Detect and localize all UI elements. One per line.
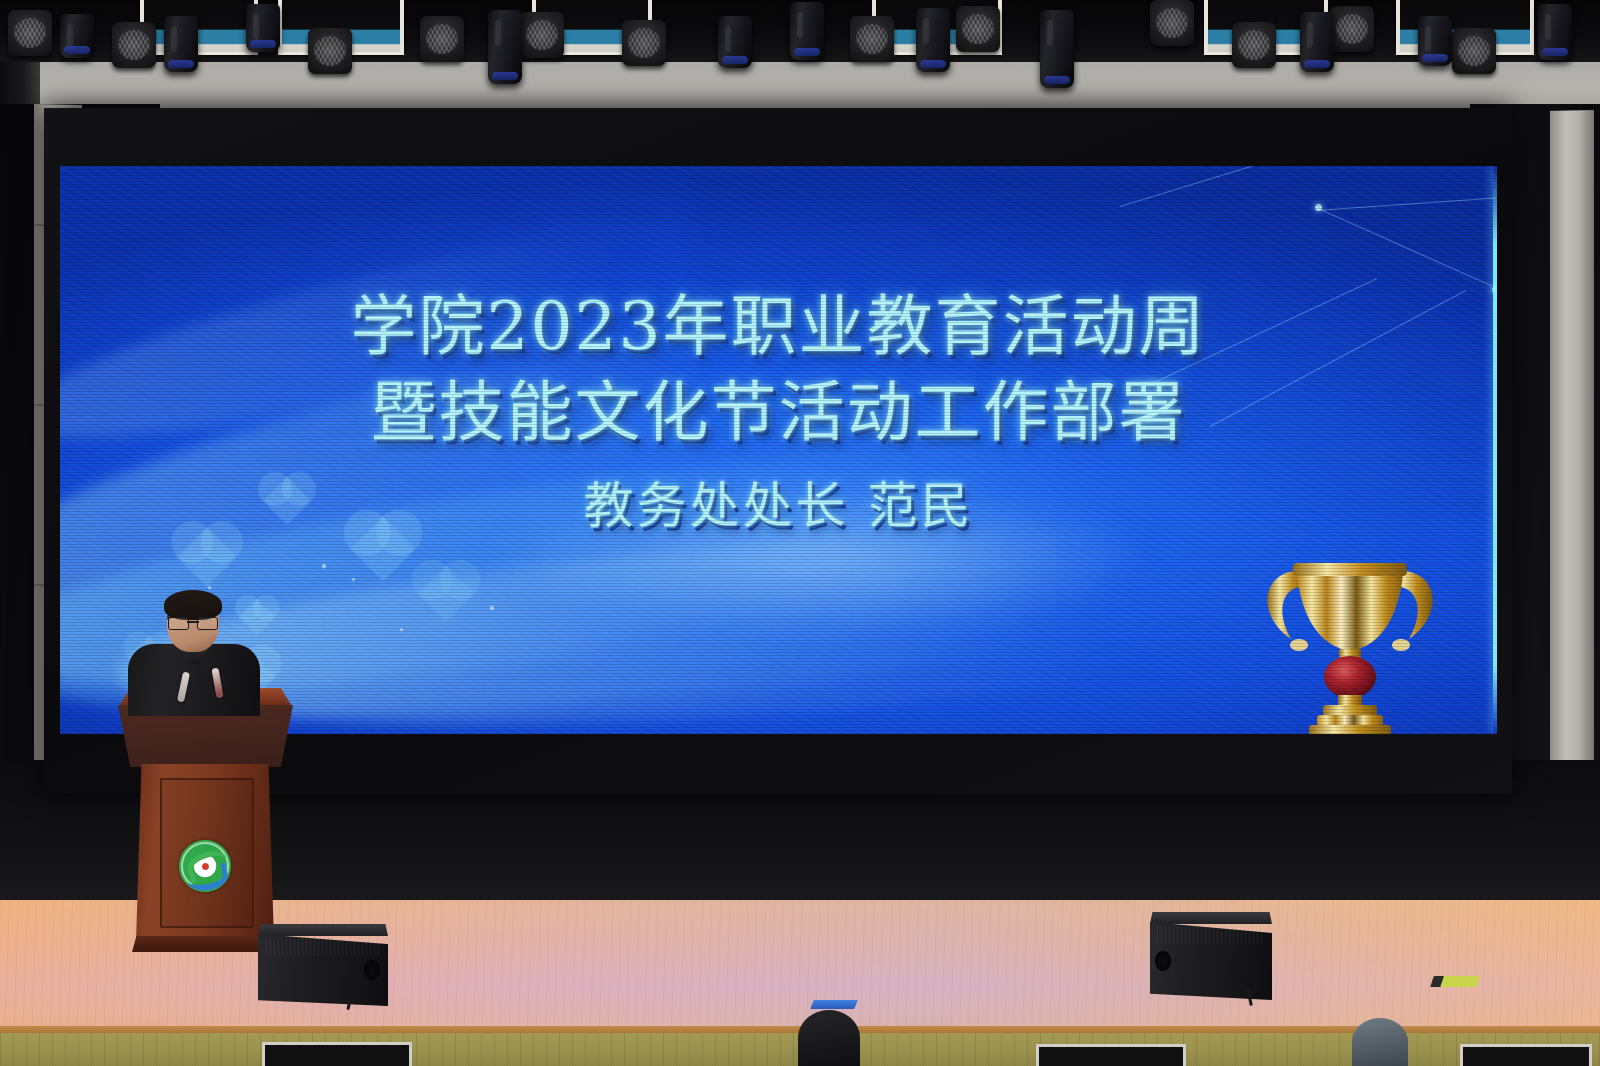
par-can-light	[850, 16, 894, 62]
par-can-light	[622, 20, 666, 66]
moving-head-light	[1538, 4, 1572, 60]
led-screen: 学院2023年职业教育活动周 暨技能文化节活动工作部署 教务处处长 范民	[60, 166, 1497, 734]
monitor-grille	[266, 938, 380, 956]
podium-body[interactable]	[136, 764, 274, 942]
moving-head-light	[488, 10, 522, 84]
moving-head-light	[916, 8, 950, 72]
par-can-light	[112, 22, 156, 68]
par-can-light	[308, 28, 352, 74]
screen-right-edge-glow	[1493, 166, 1497, 734]
eyeglasses	[168, 617, 218, 628]
par-can-light	[956, 6, 1000, 52]
audience-head	[1352, 1018, 1408, 1066]
monitor-top	[258, 924, 388, 936]
stage-monitor-speaker-left	[258, 924, 388, 1006]
monitor-port	[1155, 951, 1171, 971]
emblem-center-dot	[202, 863, 209, 870]
glasses-left-lens	[168, 617, 189, 630]
led-moire-texture	[60, 166, 1497, 734]
par-can-light	[8, 10, 52, 56]
moving-head-light	[246, 4, 280, 52]
blue-object-on-floor	[810, 1000, 858, 1009]
yellow-green-object-on-floor	[1430, 976, 1480, 987]
moving-head-light	[60, 14, 94, 58]
stage-vent-panel	[262, 1042, 412, 1066]
stage-scene-root: 学院2023年职业教育活动周 暨技能文化节活动工作部署 教务处处长 范民	[0, 0, 1600, 1066]
audience-head	[798, 1010, 860, 1066]
par-can-light	[1330, 6, 1374, 52]
monitor-top	[1150, 912, 1272, 924]
glasses-right-lens	[197, 617, 218, 630]
monitor-grille	[1157, 926, 1264, 944]
par-can-light	[1232, 22, 1276, 68]
school-emblem-logo	[179, 840, 231, 892]
presenter-hair	[164, 590, 222, 620]
stage-vent-panel	[1460, 1044, 1592, 1066]
moving-head-light	[718, 16, 752, 68]
glasses-bridge	[187, 621, 199, 623]
par-can-light	[520, 12, 564, 58]
moving-head-light	[1418, 16, 1452, 66]
par-can-light	[420, 16, 464, 62]
moving-head-light	[1300, 12, 1334, 72]
light-panel	[140, 0, 258, 55]
moving-head-light	[790, 2, 824, 60]
stage-monitor-speaker-right	[1150, 912, 1272, 1000]
par-can-light	[1150, 0, 1194, 46]
par-can-light	[1452, 28, 1496, 74]
stage-vent-panel	[1036, 1044, 1186, 1066]
moving-head-light	[1040, 10, 1074, 88]
moving-head-light	[164, 16, 198, 72]
